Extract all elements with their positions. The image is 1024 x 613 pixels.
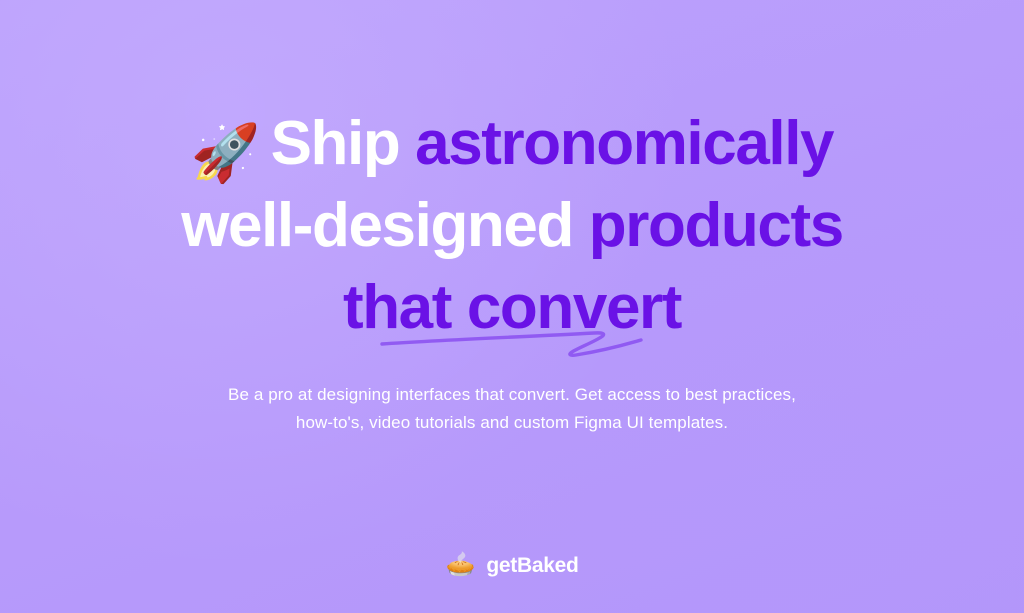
headline-word-products-text: products: [589, 191, 843, 260]
subtitle-line-2: how-to's, video tutorials and custom Fig…: [0, 409, 1024, 437]
hero-section: 🚀Ship astronomically well-designed produ…: [0, 0, 1024, 613]
rocket-icon: 🚀: [191, 125, 261, 181]
brand-logo[interactable]: 🥧 getBaked: [0, 553, 1024, 577]
headline-word-ship: Ship: [271, 109, 400, 178]
headline-line-3-inner: that convert: [343, 267, 681, 349]
page-headline: 🚀Ship astronomically well-designed produ…: [0, 103, 1024, 349]
brand-name-label: getBaked: [486, 555, 578, 576]
headline-word-products: products: [573, 191, 843, 260]
headline-line-3: that convert: [0, 267, 1024, 349]
headline-word-astronomically: astronomically: [399, 109, 833, 178]
headline-word-that-convert: that convert: [343, 273, 681, 342]
hero-subtitle: Be a pro at designing interfaces that co…: [0, 381, 1024, 437]
headline-line-1: 🚀Ship astronomically: [0, 103, 1024, 185]
headline-line-2: well-designed products: [0, 185, 1024, 267]
pie-icon: 🥧: [445, 553, 475, 577]
subtitle-line-1: Be a pro at designing interfaces that co…: [0, 381, 1024, 409]
headline-word-astronomically-text: astronomically: [415, 109, 833, 178]
headline-word-well-designed: well-designed: [181, 191, 573, 260]
